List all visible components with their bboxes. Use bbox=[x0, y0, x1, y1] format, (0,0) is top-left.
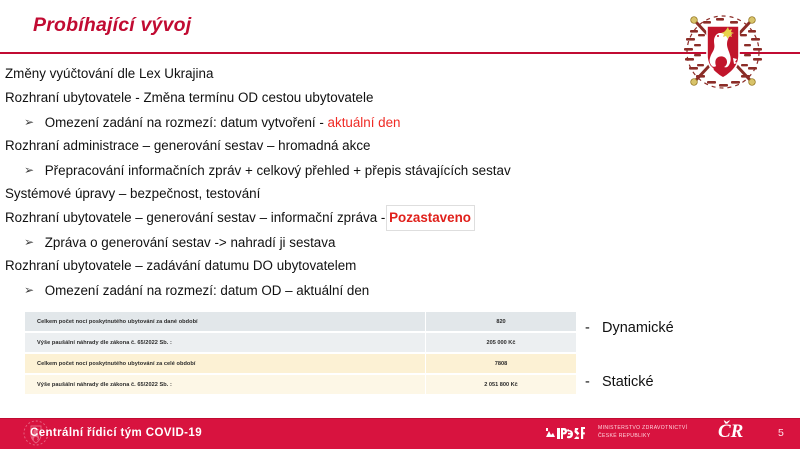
body-line: Změny vyúčtování dle Lex Ukrajina bbox=[0, 62, 800, 86]
page-title: Probíhající vývoj bbox=[33, 14, 191, 37]
table-cell-label: Celkem počet nocí poskytnutého ubytování… bbox=[25, 312, 425, 331]
table-row: Celkem počet nocí poskytnutého ubytování… bbox=[25, 354, 576, 373]
body-line: ➢ Přepracování informačních zpráv + celk… bbox=[0, 158, 800, 182]
ministry-name: MINISTERSTVO ZDRAVOTNICTVÍ ČESKÉ REPUBLI… bbox=[598, 424, 687, 441]
table-row: Výše paušální náhrady dle zákona č. 65/2… bbox=[25, 375, 576, 394]
dash-marker-icon: - bbox=[585, 374, 602, 390]
table-cell-label: Výše paušální náhrady dle zákona č. 65/2… bbox=[25, 333, 425, 352]
ministry-of-health-logo-icon bbox=[545, 424, 592, 443]
body-line-highlight: aktuální den bbox=[328, 115, 401, 130]
slide-body: Změny vyúčtování dle Lex Ukrajina Rozhra… bbox=[0, 62, 800, 302]
ministry-name-line1: MINISTERSTVO ZDRAVOTNICTVÍ bbox=[598, 424, 687, 432]
arrow-bullet-icon: ➢ bbox=[24, 230, 41, 254]
cr-logo: ČR bbox=[718, 421, 743, 443]
body-line-text: Rozhraní ubytovatele - Změna termínu OD … bbox=[5, 90, 373, 105]
body-line-text: Rozhraní ubytovatele – zadávání datumu D… bbox=[5, 258, 356, 273]
table-cell-value: 7808 bbox=[425, 354, 576, 373]
body-line-text: Systémové úpravy – bezpečnost, testování bbox=[5, 186, 260, 201]
body-line: Systémové úpravy – bezpečnost, testování bbox=[0, 182, 800, 206]
body-line-text: Zpráva o generování sestav -> nahradí ji… bbox=[45, 235, 336, 250]
table-cell-value: 2 051 800 Kč bbox=[425, 375, 576, 394]
annotation-static: -Statické bbox=[585, 374, 654, 390]
status-badge-pozastaveno: Pozastaveno bbox=[387, 206, 474, 230]
dash-marker-icon: - bbox=[585, 320, 602, 336]
body-line-text: Přepracování informačních zpráv + celkov… bbox=[45, 163, 511, 178]
footer-team-label: Centrální řídicí tým COVID-19 bbox=[30, 418, 202, 449]
summary-table: Celkem počet nocí poskytnutého ubytování… bbox=[25, 310, 576, 396]
arrow-bullet-icon: ➢ bbox=[24, 278, 41, 302]
body-line: Rozhraní administrace – generování sesta… bbox=[0, 134, 800, 158]
table-cell-label: Celkem počet nocí poskytnutého ubytování… bbox=[25, 354, 425, 373]
body-line: Rozhraní ubytovatele - Změna termínu OD … bbox=[0, 86, 800, 110]
body-line-text: Rozhraní administrace – generování sesta… bbox=[5, 138, 370, 153]
table-row: Výše paušální náhrady dle zákona č. 65/2… bbox=[25, 333, 576, 352]
slide-root: Probíhající vývoj bbox=[0, 0, 800, 449]
table-cell-label: Výše paušální náhrady dle zákona č. 65/2… bbox=[25, 375, 425, 394]
body-line: ➢ Omezení zadání na rozmezí: datum OD – … bbox=[0, 278, 800, 302]
page-number: 5 bbox=[778, 418, 784, 449]
table-cell-value: 205 000 Kč bbox=[425, 333, 576, 352]
arrow-bullet-icon: ➢ bbox=[24, 158, 41, 182]
body-line-text: Omezení zadání na rozmezí: datum OD – ak… bbox=[45, 283, 370, 298]
table-row: Celkem počet nocí poskytnutého ubytování… bbox=[25, 312, 576, 331]
body-line-text: Rozhraní ubytovatele – generování sestav… bbox=[5, 210, 389, 225]
body-line: ➢ Zpráva o generování sestav -> nahradí … bbox=[0, 230, 800, 254]
annotation-dynamic-label: Dynamické bbox=[602, 320, 674, 336]
table-cell-value: 820 bbox=[425, 312, 576, 331]
arrow-bullet-icon: ➢ bbox=[24, 110, 41, 134]
annotation-static-label: Statické bbox=[602, 374, 654, 390]
annotation-dynamic: -Dynamické bbox=[585, 320, 674, 336]
body-line-text: Omezení zadání na rozmezí: datum vytvoře… bbox=[45, 115, 328, 130]
body-line: ➢ Omezení zadání na rozmezí: datum vytvo… bbox=[0, 110, 800, 134]
ministry-name-line2: ČESKÉ REPUBLIKY bbox=[598, 432, 687, 440]
body-line: Rozhraní ubytovatele – zadávání datumu D… bbox=[0, 254, 800, 278]
body-line: Rozhraní ubytovatele – generování sestav… bbox=[0, 206, 800, 230]
body-line-text: Změny vyúčtování dle Lex Ukrajina bbox=[5, 66, 213, 81]
